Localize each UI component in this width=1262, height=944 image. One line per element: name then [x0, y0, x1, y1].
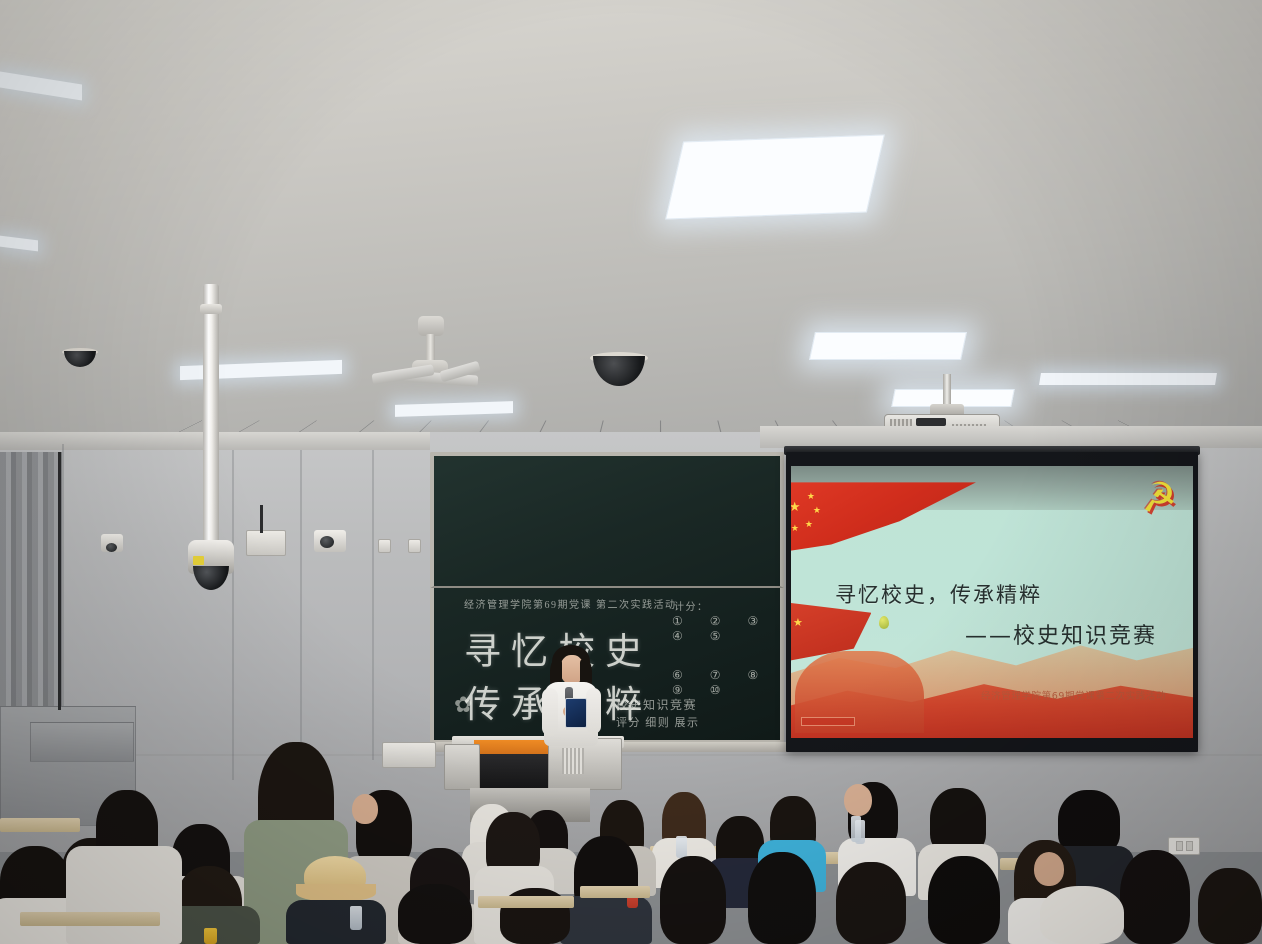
- desk: [0, 818, 80, 832]
- ceiling: [0, 0, 1262, 470]
- tablet-device: [565, 698, 587, 728]
- slide-subtitle: ——校史知识竞赛: [965, 618, 1157, 650]
- wall-outlet[interactable]: [1168, 837, 1200, 855]
- flag-star-icon: ★: [793, 618, 803, 629]
- desk: [478, 896, 574, 908]
- flag-star-icon: ★: [791, 500, 801, 513]
- flag-star-icon: ★: [805, 520, 813, 529]
- flag-star-icon: ★: [791, 524, 799, 533]
- ceiling-light-panel: [0, 72, 82, 101]
- gate-plaque: [801, 717, 855, 726]
- water-bottle: [350, 906, 362, 930]
- desk: [20, 912, 160, 926]
- wall-cable: [260, 505, 263, 533]
- slide-title: 寻忆校史，传承精粹: [835, 579, 1042, 609]
- slide-footer: 经济管理学院第69期党课第二次实践活动: [981, 688, 1166, 702]
- ceiling-light-panel: [395, 401, 513, 417]
- ceiling-light-panel: [665, 135, 885, 220]
- projection-screen: ★ ★ ★ ★ ★ ☭ ★ 寻忆校史，传承精粹 ——校史知识竞赛 经济管理学院第…: [786, 452, 1198, 752]
- desk: [580, 886, 650, 898]
- wall-cable: [58, 452, 61, 710]
- ceiling-light-panel: [0, 236, 38, 252]
- presentation-slide: ★ ★ ★ ★ ★ ☭ ★ 寻忆校史，传承精粹 ——校史知识竞赛 经济管理学院第…: [791, 466, 1193, 738]
- classroom-scene: 经济管理学院第69期党课 第二次实践活动 寻忆校史 传承精粹 ✿ 计分： ① ②…: [0, 0, 1262, 944]
- chalkboard-score-row-1: ① ② ③ ④ ⑤: [672, 614, 780, 644]
- water-bottle: [855, 820, 865, 844]
- chalkboard-upper-section: [430, 452, 784, 588]
- chalkboard-note-1: 校史知识竞赛: [616, 696, 697, 713]
- chalkboard-header: 经济管理学院第69期党课 第二次实践活动: [464, 596, 677, 611]
- ceiling-light-panel: [1039, 373, 1217, 385]
- water-bottle: [676, 836, 687, 858]
- wall-equipment-box: [246, 530, 286, 556]
- chalk-flower-doodle: ✿: [454, 692, 472, 718]
- wall-panel: [378, 539, 391, 553]
- chalkboard-score-label: 计分：: [674, 598, 709, 613]
- flag-star-icon: ★: [813, 506, 821, 515]
- ceiling-light-panel: [809, 332, 967, 360]
- chalkboard-note-2: 评分 细则 展示: [616, 714, 700, 730]
- board-light-housing: [382, 742, 436, 768]
- cpc-emblem-icon: ☭: [1140, 477, 1179, 519]
- wall-panel: [408, 539, 421, 553]
- floor-cabinet: [30, 722, 134, 762]
- leaf-decoration: [879, 616, 889, 629]
- flag-graphic-top: ★ ★ ★ ★ ★: [791, 482, 976, 553]
- chalkboard-score-row-2: ⑥ ⑦ ⑧ ⑨ ⑩: [672, 668, 780, 698]
- flag-star-icon: ★: [807, 492, 815, 501]
- water-bottle: [204, 928, 217, 944]
